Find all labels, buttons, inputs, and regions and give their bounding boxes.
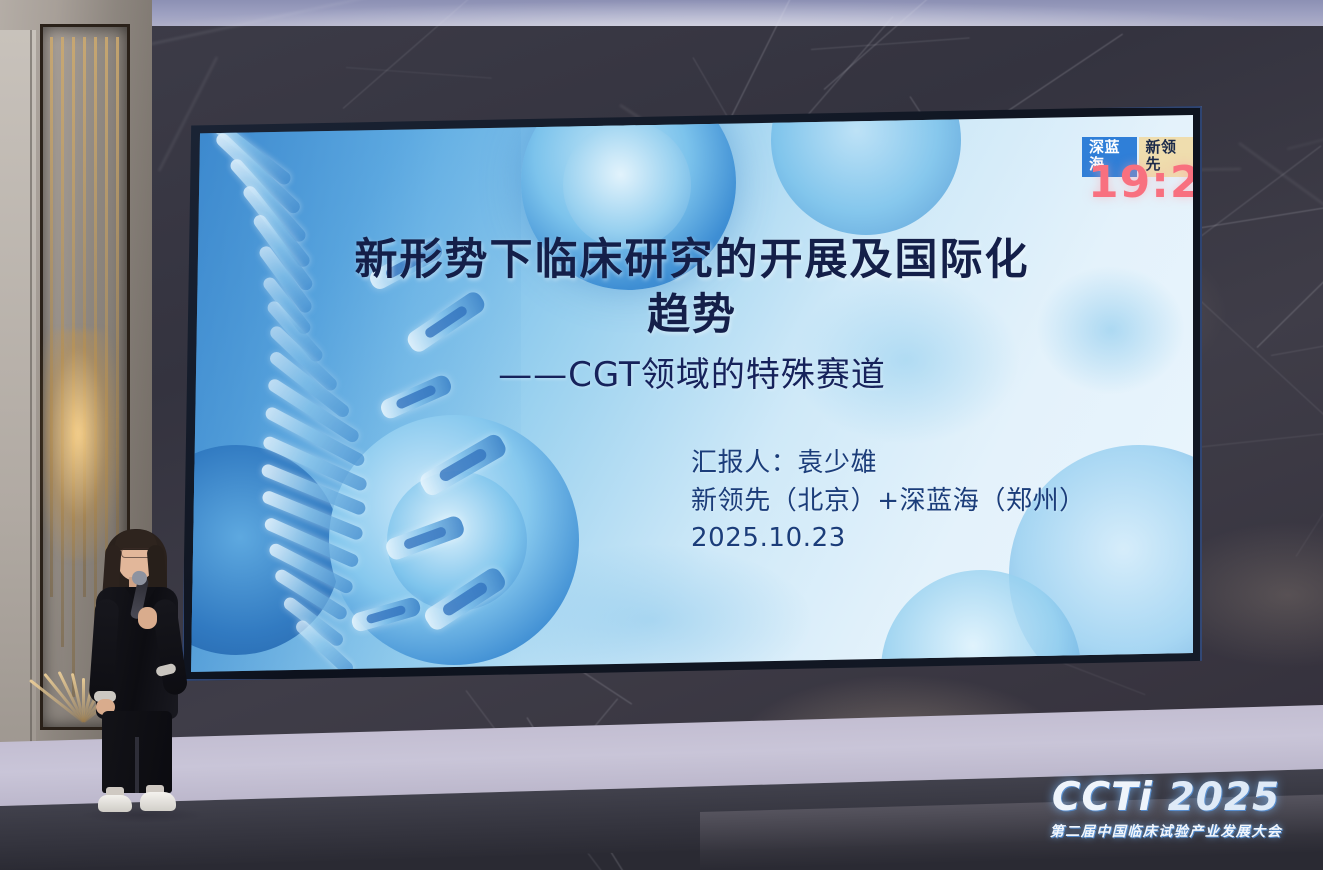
- slide-title-line2: 趋势: [191, 288, 1193, 343]
- presentation-date: 2025.10.23: [691, 520, 1086, 558]
- slide-cell-graphic: [771, 115, 961, 235]
- left-wall-seam: [30, 30, 32, 816]
- chromosome-graphic: [350, 596, 423, 634]
- presenter-hand-right: [138, 607, 157, 629]
- chromosome-graphic: [384, 514, 467, 562]
- marble-vein: [1295, 481, 1323, 556]
- marble-vein: [1239, 142, 1323, 243]
- marble-vein: [1256, 213, 1323, 348]
- marble-vein: [345, 67, 491, 79]
- presenter-name-line: 汇报人：袁少雄: [691, 445, 1086, 483]
- conference-logo-main: CCTi 2025: [1035, 778, 1297, 817]
- countdown-timer: 19:26: [1088, 161, 1193, 205]
- dna-helix-graphic: [191, 135, 501, 672]
- slide-subtitle: ——CGT领域的特殊赛道: [191, 347, 1193, 396]
- slide-title: 新形势下临床研究的开展及国际化 趋势: [191, 233, 1193, 343]
- presenter-shoe-right: [140, 792, 176, 811]
- marble-vein: [1287, 79, 1323, 150]
- presenter-shoe-left: [98, 795, 132, 812]
- presenter-person: [72, 515, 202, 810]
- marble-vein: [1198, 298, 1323, 493]
- presenter-leg-gap: [135, 737, 139, 793]
- slide-cell-nucleus: [563, 121, 691, 249]
- marble-vein: [1271, 334, 1323, 356]
- conference-logo-year: 2025: [1168, 775, 1281, 820]
- presenter-info: 汇报人：袁少雄 新领先（北京）+深蓝海（郑州） 2025.10.23: [691, 445, 1086, 558]
- conference-logo-name: CCTi: [1052, 775, 1153, 820]
- chromosome-graphic: [422, 565, 509, 633]
- led-screen[interactable]: 深蓝海 新领先 19:26 新形势下临床研究的开展及国际化 趋势 ——CGT领域…: [182, 106, 1202, 681]
- ceiling-light-glow: [120, 0, 1323, 28]
- conference-logo-subtitle: 第二届中国临床试验产业发展大会: [1035, 821, 1297, 841]
- chromosome-graphic: [417, 432, 509, 499]
- slide-title-line1: 新形势下临床研究的开展及国际化: [355, 235, 1030, 285]
- conference-hall-scene: 深蓝海 新领先 19:26 新形势下临床研究的开展及国际化 趋势 ——CGT领域…: [0, 0, 1323, 870]
- presenter-org-line: 新领先（北京）+深蓝海（郑州）: [691, 483, 1086, 521]
- marble-vein: [811, 38, 970, 51]
- conference-logo: CCTi 2025 第二届中国临床试验产业发展大会: [1035, 778, 1297, 840]
- slide-canvas: 深蓝海 新领先 19:26 新形势下临床研究的开展及国际化 趋势 ——CGT领域…: [191, 115, 1193, 672]
